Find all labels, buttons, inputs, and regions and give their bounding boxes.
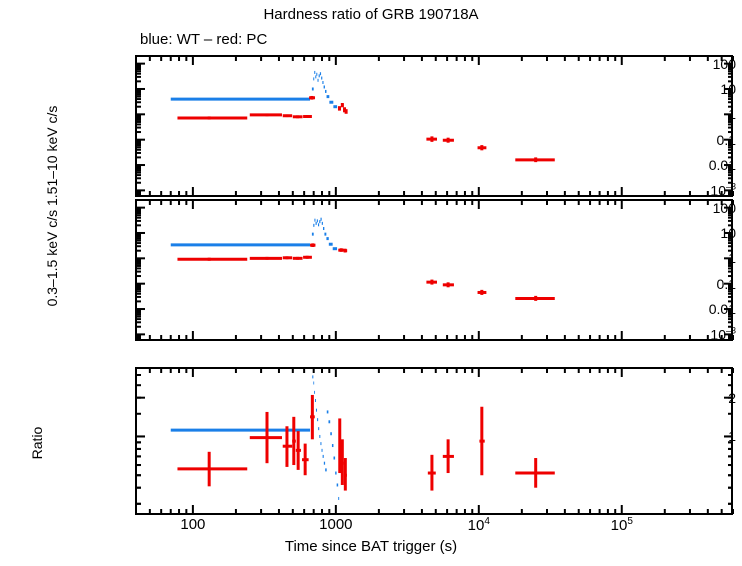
- plot-overlay: [0, 0, 742, 566]
- y-tick-label: 0.1: [676, 132, 736, 148]
- hardness-ratio-figure: Hardness ratio of GRB 190718A blue: WT –…: [0, 0, 742, 566]
- y-tick-label-ratio: 1: [676, 428, 736, 444]
- y-tick-label: 10–3: [676, 182, 736, 199]
- panel-1-data: [171, 72, 555, 162]
- y-tick-label: 0.01: [676, 301, 736, 317]
- x-tick-label: 105: [611, 516, 633, 534]
- y-tick-label-ratio: 2: [676, 390, 736, 406]
- y-tick-label: 0.1: [676, 276, 736, 292]
- y-tick-label: 10: [676, 81, 736, 97]
- panel-3-data: [171, 377, 555, 499]
- panel-2-data: [171, 219, 555, 301]
- y-tick-label: 100: [676, 56, 736, 72]
- x-tick-label: 100: [180, 516, 205, 533]
- y-tick-label: 10: [676, 225, 736, 241]
- y-tick-label: 100: [676, 200, 736, 216]
- y-tick-label: 10–3: [676, 326, 736, 343]
- y-tick-label: 1: [676, 106, 736, 122]
- y-tick-label: 0.01: [676, 157, 736, 173]
- x-tick-label: 104: [468, 516, 490, 534]
- x-tick-label: 1000: [319, 516, 352, 533]
- y-tick-label: 1: [676, 250, 736, 266]
